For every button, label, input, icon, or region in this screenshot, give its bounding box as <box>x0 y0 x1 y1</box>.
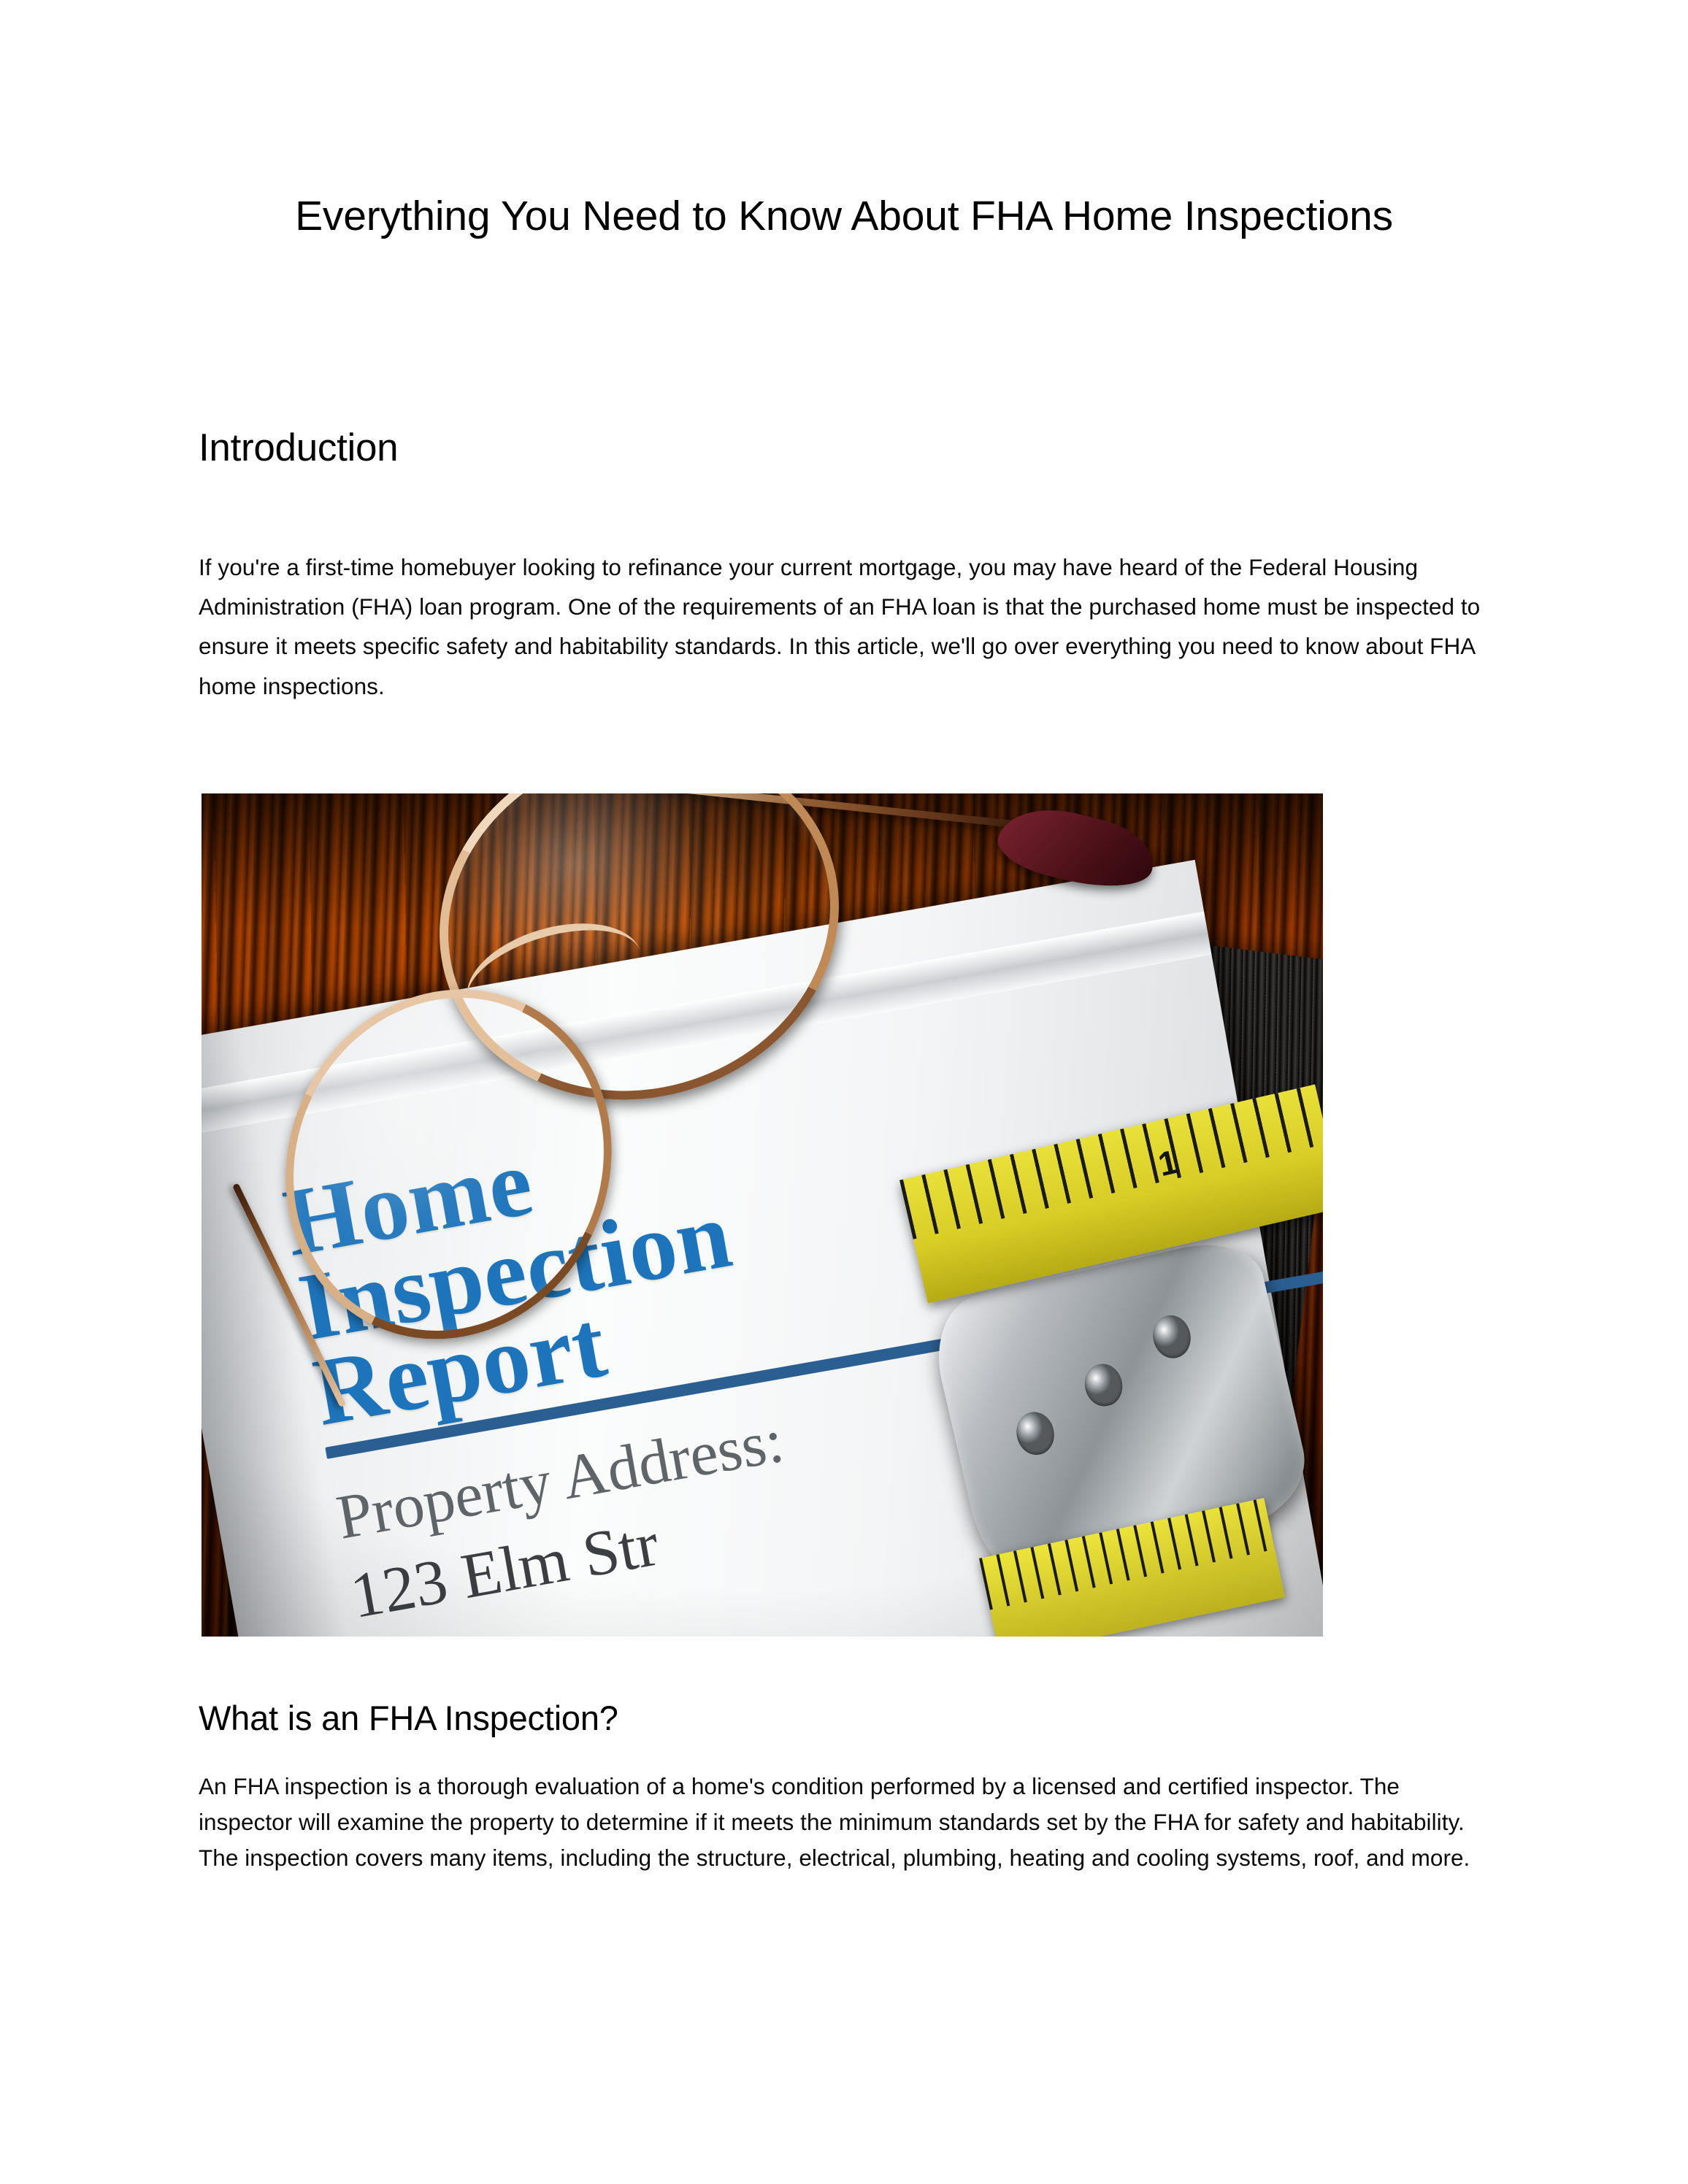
eyeglasses-temple-tip <box>992 796 1161 900</box>
home-inspection-report-photo: Home Inspection Report Property Address:… <box>202 793 1323 1637</box>
photo-stage: Home Inspection Report Property Address:… <box>202 793 1323 1637</box>
heading-what-is-an-fha-inspection: What is an FHA Inspection? <box>199 1695 618 1742</box>
document-page: Everything You Need to Know About FHA Ho… <box>0 0 1688 2184</box>
tape-measure-rivet <box>1013 1408 1059 1458</box>
tape-measure-rivet <box>1081 1360 1127 1410</box>
heading-introduction: Introduction <box>199 422 398 474</box>
page-title: Everything You Need to Know About FHA Ho… <box>199 187 1489 246</box>
paragraph-introduction: If you're a first-time homebuyer looking… <box>199 547 1492 706</box>
tape-measure-rivet <box>1149 1312 1195 1362</box>
paragraph-what-is-an-fha-inspection: An FHA inspection is a thorough evaluati… <box>199 1769 1492 1877</box>
